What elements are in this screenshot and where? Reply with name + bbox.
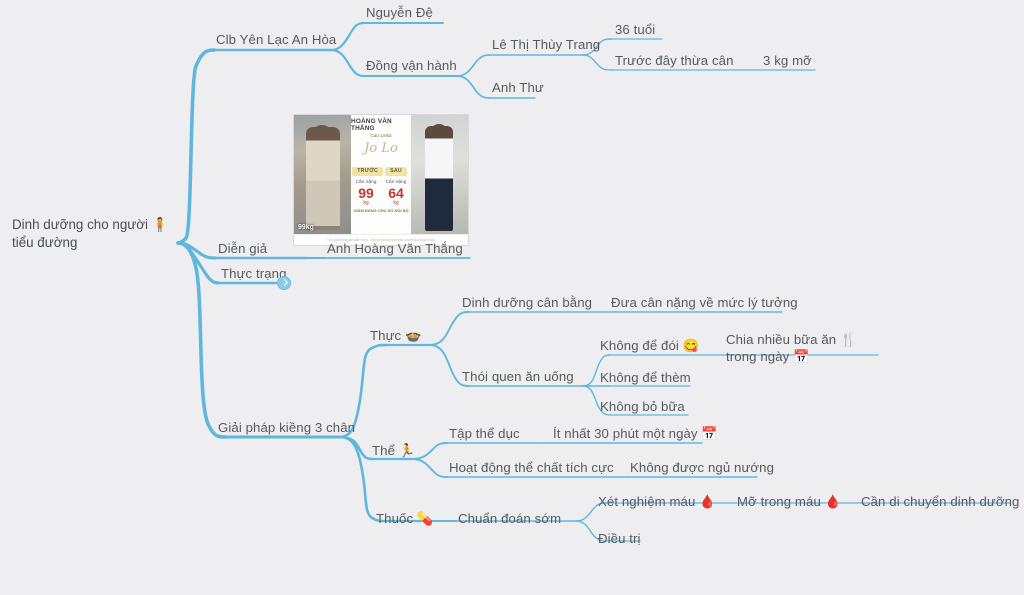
node-clb-yen-lac-an-hoa[interactable]: Clb Yên Lạc An Hòa (214, 32, 338, 50)
node-chuan-doan-som[interactable]: Chuẩn đoán sớm (456, 511, 563, 529)
node-khong-duoc-ngu-nuong[interactable]: Không được ngủ nướng (628, 460, 776, 478)
node-anh-thu[interactable]: Anh Thư (490, 80, 546, 98)
node-giai-phap-kieng-3-chan[interactable]: Giải pháp kiềng 3 chân (216, 420, 357, 438)
before-tag: TRƯỚC (352, 167, 383, 176)
node-dien-gia[interactable]: Diễn giả (216, 241, 269, 259)
node-the[interactable]: Thể 🏃 (370, 443, 417, 461)
before-weight-unit: kg (352, 200, 380, 206)
node-mo-trong-mau[interactable]: Mỡ trong máu 🩸 (735, 494, 843, 512)
node-thoi-quen-an-uong[interactable]: Thói quen ăn uống (460, 369, 576, 387)
after-tag: SAU (385, 167, 407, 176)
node-thuc[interactable]: Thực 🍲 (368, 328, 424, 346)
node-hoat-dong-the-chat[interactable]: Hoạt động thể chất tích cực (447, 460, 616, 478)
root-node[interactable]: Dinh dưỡng cho người 🧍 tiểu đường (12, 216, 184, 252)
node-khong-de-doi[interactable]: Không để đói 😋 (598, 338, 701, 356)
node-can-di-chuyen-dinh-duong[interactable]: Cần di chuyển dinh dưỡng (859, 494, 1021, 512)
photo-footer-text: GIẢM ĐÁNG CHÚ SỐ NỘI BỘ (353, 208, 408, 213)
node-nguyen-de[interactable]: Nguyễn Đệ (364, 5, 435, 23)
before-weight-value: 99 (352, 186, 380, 200)
node-it-nhat-30-phut[interactable]: Ít nhất 30 phút một ngày 📅 (551, 426, 720, 444)
photo-before-column: TRƯỚC Cân nặng 99 kg (352, 159, 380, 206)
after-figure-icon (425, 126, 453, 231)
before-weight-overlay: 99kg (298, 224, 314, 231)
mindmap-canvas[interactable]: Dinh dưỡng cho người 🧍 tiểu đường Clb Yê… (0, 0, 1024, 595)
node-3-kg-mo[interactable]: 3 kg mỡ (761, 53, 814, 71)
photo-person-height: Cao 1m62 (370, 133, 391, 138)
node-dieu-tri[interactable]: Điều trị (596, 531, 643, 549)
photo-signature: Jo Lo (364, 141, 398, 156)
node-khong-bo-bua[interactable]: Không bỏ bữa (598, 399, 687, 417)
after-weight-unit: kg (382, 200, 410, 206)
photo-person-name: HOÀNG VĂN THẮNG (351, 118, 411, 132)
chevron-right-icon[interactable] (277, 276, 291, 290)
node-chia-nhieu-bua-an[interactable]: Chia nhiều bữa ăn 🍴 trong ngày 📅 (724, 331, 880, 367)
node-thuoc[interactable]: Thuốc 💊 (374, 511, 435, 529)
node-dinh-duong-can-bang[interactable]: Dinh dưỡng cân bằng (460, 295, 594, 313)
node-dong-van-hanh[interactable]: Đồng vận hành (364, 58, 459, 76)
after-weight-value: 64 (382, 186, 410, 200)
node-anh-hoang-van-thang[interactable]: Anh Hoàng Văn Thắng (325, 241, 465, 259)
photo-after-column: SAU Cân nặng 64 kg (382, 159, 410, 206)
node-xet-nghiem-mau[interactable]: Xét nghiệm máu 🩸 (596, 494, 718, 512)
before-figure-icon (306, 127, 340, 230)
node-tap-the-duc[interactable]: Tập thể dục (447, 426, 522, 444)
node-le-thi-thuy-trang[interactable]: Lê Thị Thùy Trang (490, 37, 602, 55)
photo-info-panel: HOÀNG VĂN THẮNG Cao 1m62 Jo Lo TRƯỚC Cân… (351, 115, 411, 234)
node-dua-can-nang-ly-tuong[interactable]: Đưa cân nặng về mức lý tưởng (609, 295, 800, 313)
node-36-tuoi[interactable]: 36 tuổi (613, 22, 657, 40)
transformation-photo[interactable]: 99kg HOÀNG VĂN THẮNG Cao 1m62 Jo Lo TRƯỚ… (293, 114, 469, 246)
node-khong-de-them[interactable]: Không để thèm (598, 370, 693, 388)
node-truoc-day-thua-can[interactable]: Trước đây thừa cân (613, 53, 736, 71)
photo-before-side: 99kg (294, 115, 351, 234)
photo-after-side (411, 115, 468, 234)
